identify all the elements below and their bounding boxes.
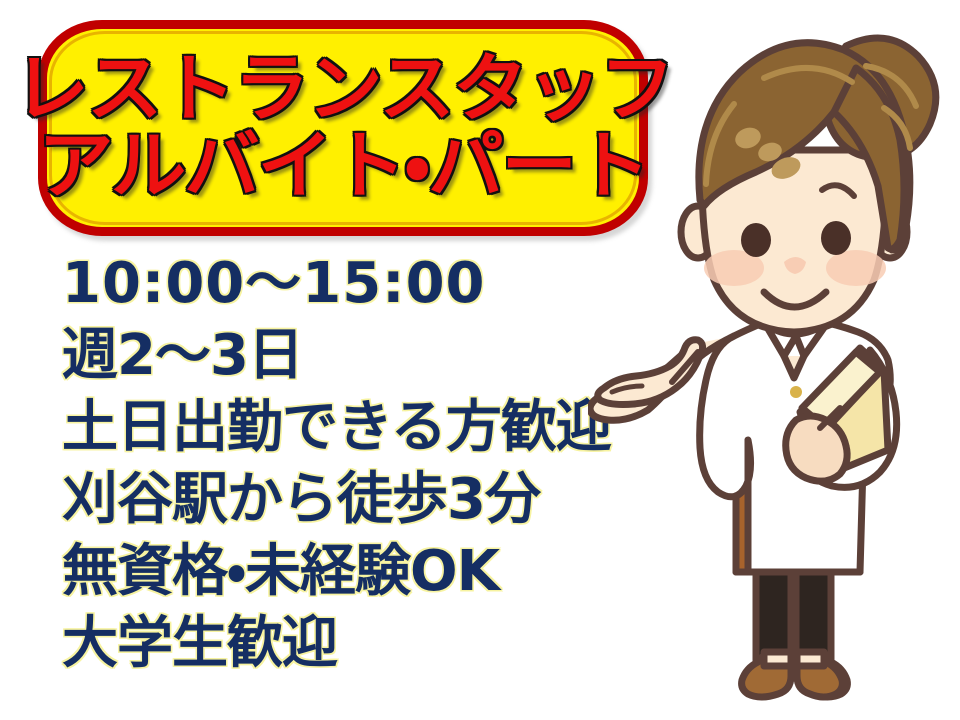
- job-details-list: 10:00〜15:00 週2〜3日 土日出勤できる方歓迎 刈谷駅から徒歩3分 無…: [62, 248, 622, 680]
- job-ad-poster: レストランスタッフ アルバイト・パート 10:00〜15:00 週2〜3日 土日…: [0, 0, 960, 720]
- headline-line-1: レストランスタッフ: [13, 52, 672, 127]
- detail-no-experience-ok: 無資格・未経験OK: [62, 536, 622, 608]
- headline-badge: レストランスタッフ アルバイト・パート: [38, 20, 648, 236]
- detail-work-hours: 10:00〜15:00: [62, 248, 622, 320]
- detail-days-per-week: 週2〜3日: [62, 320, 622, 392]
- detail-station-access: 刈谷駅から徒歩3分: [62, 464, 622, 536]
- waitress-figure: [588, 0, 960, 720]
- waitress-illustration: [588, 0, 960, 720]
- headline-line-2: アルバイト・パート: [38, 129, 648, 204]
- detail-weekend-welcome: 土日出勤できる方歓迎: [62, 392, 622, 464]
- detail-students-welcome: 大学生歓迎: [62, 608, 622, 680]
- shoes: [742, 652, 848, 697]
